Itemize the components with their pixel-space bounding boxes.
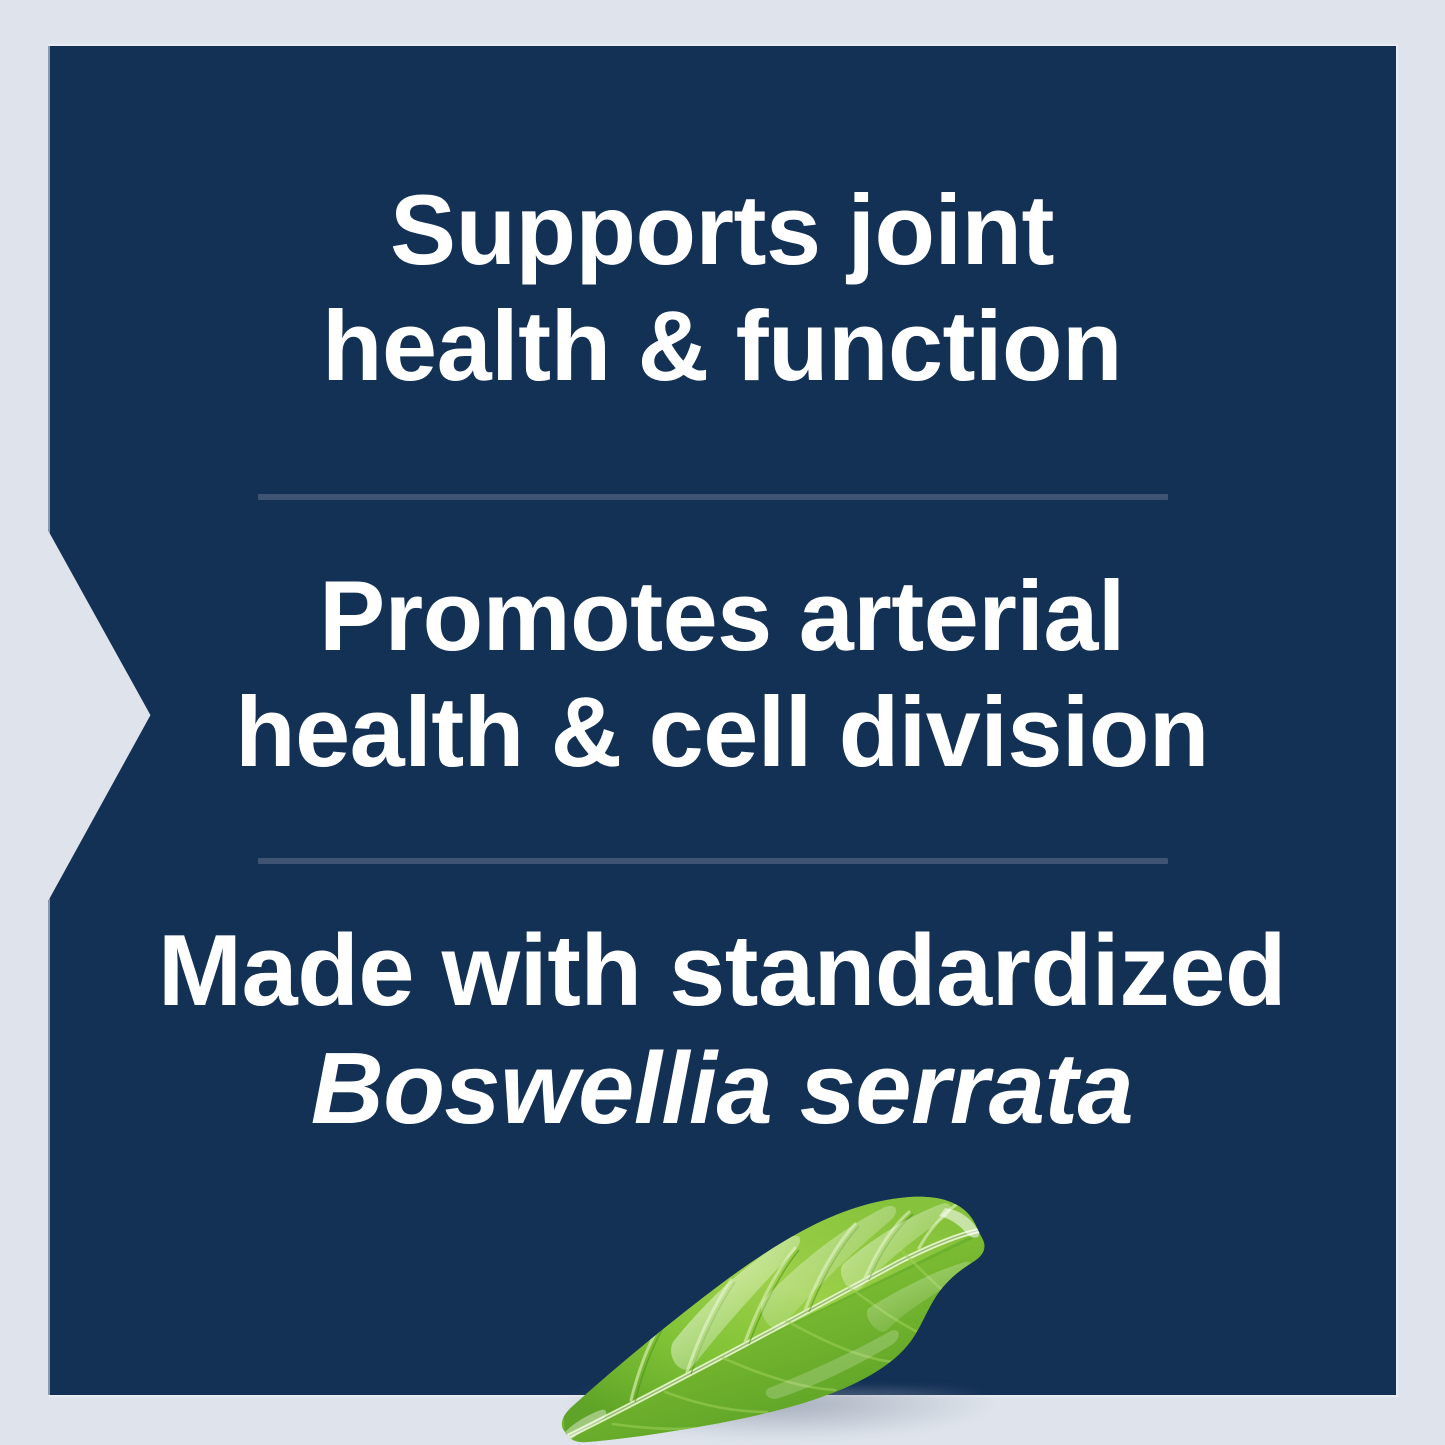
boswellia-leaf-icon [553,1152,1043,1445]
claim-3-line-2-botanical-name: Boswellia serrata [48,1030,1396,1148]
divider-1 [258,494,1168,500]
benefit-callout-graphic: Supports joint health & function Promote… [0,0,1445,1445]
claim-2-line-1: Promotes arterial [48,558,1396,674]
claim-standardized-boswellia: Made with standardized Boswellia serrata [48,912,1396,1148]
claim-1-line-1: Supports joint [48,172,1396,288]
leaf-illustration [553,1152,1043,1445]
divider-2 [258,858,1168,864]
claim-2-line-2: health & cell division [48,674,1396,790]
claim-1-line-2: health & function [48,288,1396,404]
claim-3-line-1: Made with standardized [48,912,1396,1030]
claim-supports-joint-health: Supports joint health & function [48,172,1396,404]
claim-promotes-arterial-health: Promotes arterial health & cell division [48,558,1396,790]
